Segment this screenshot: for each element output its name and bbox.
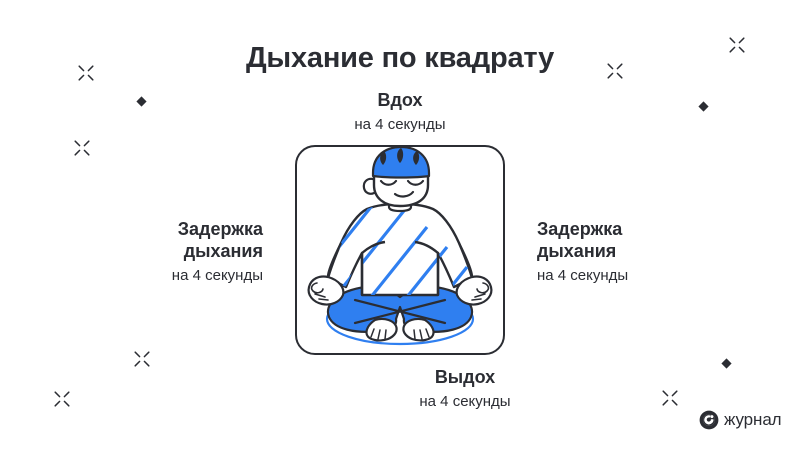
phase-label-hold-left: Задержка дыхания на 4 секунды [30, 219, 263, 285]
sparkle-icon [134, 351, 150, 367]
meditation-illustration-frame [295, 145, 505, 355]
sparkle-icon [74, 140, 90, 156]
phase-hold-right-duration: на 4 секунды [537, 266, 777, 286]
phase-hold-right-name: Задержка дыхания [537, 219, 777, 263]
journal-logo-icon [699, 410, 719, 430]
phase-hold-left-name: Задержка дыхания [30, 219, 263, 263]
sparkle-icon [78, 65, 94, 81]
sparkle-icon [54, 391, 70, 407]
sparkle-icon [607, 63, 623, 79]
ear [364, 179, 374, 194]
phase-label-inhale: Вдох на 4 секунды [240, 90, 560, 134]
phase-hold-left-duration: на 4 секунды [30, 266, 263, 286]
meditating-person-icon [297, 147, 503, 353]
phase-inhale-duration: на 4 секунды [240, 115, 560, 135]
diamond-icon [721, 358, 732, 369]
page-title: Дыхание по квадрату [0, 42, 800, 75]
sparkle-icon [729, 37, 745, 53]
phase-exhale-name: Выдох [305, 367, 625, 389]
sparkle-icon [662, 390, 678, 406]
infographic-canvas: Дыхание по квадрату Вдох на 4 секунды За… [0, 0, 800, 450]
brand-logo-label: журнал [724, 410, 782, 430]
phase-label-hold-right: Задержка дыхания на 4 секунды [537, 219, 777, 285]
brand-logo: журнал [699, 410, 782, 430]
phase-inhale-name: Вдох [240, 90, 560, 112]
phase-exhale-duration: на 4 секунды [305, 392, 625, 412]
diamond-icon [136, 96, 147, 107]
phase-label-exhale: Выдох на 4 секунды [305, 367, 625, 411]
diamond-icon [698, 101, 709, 112]
